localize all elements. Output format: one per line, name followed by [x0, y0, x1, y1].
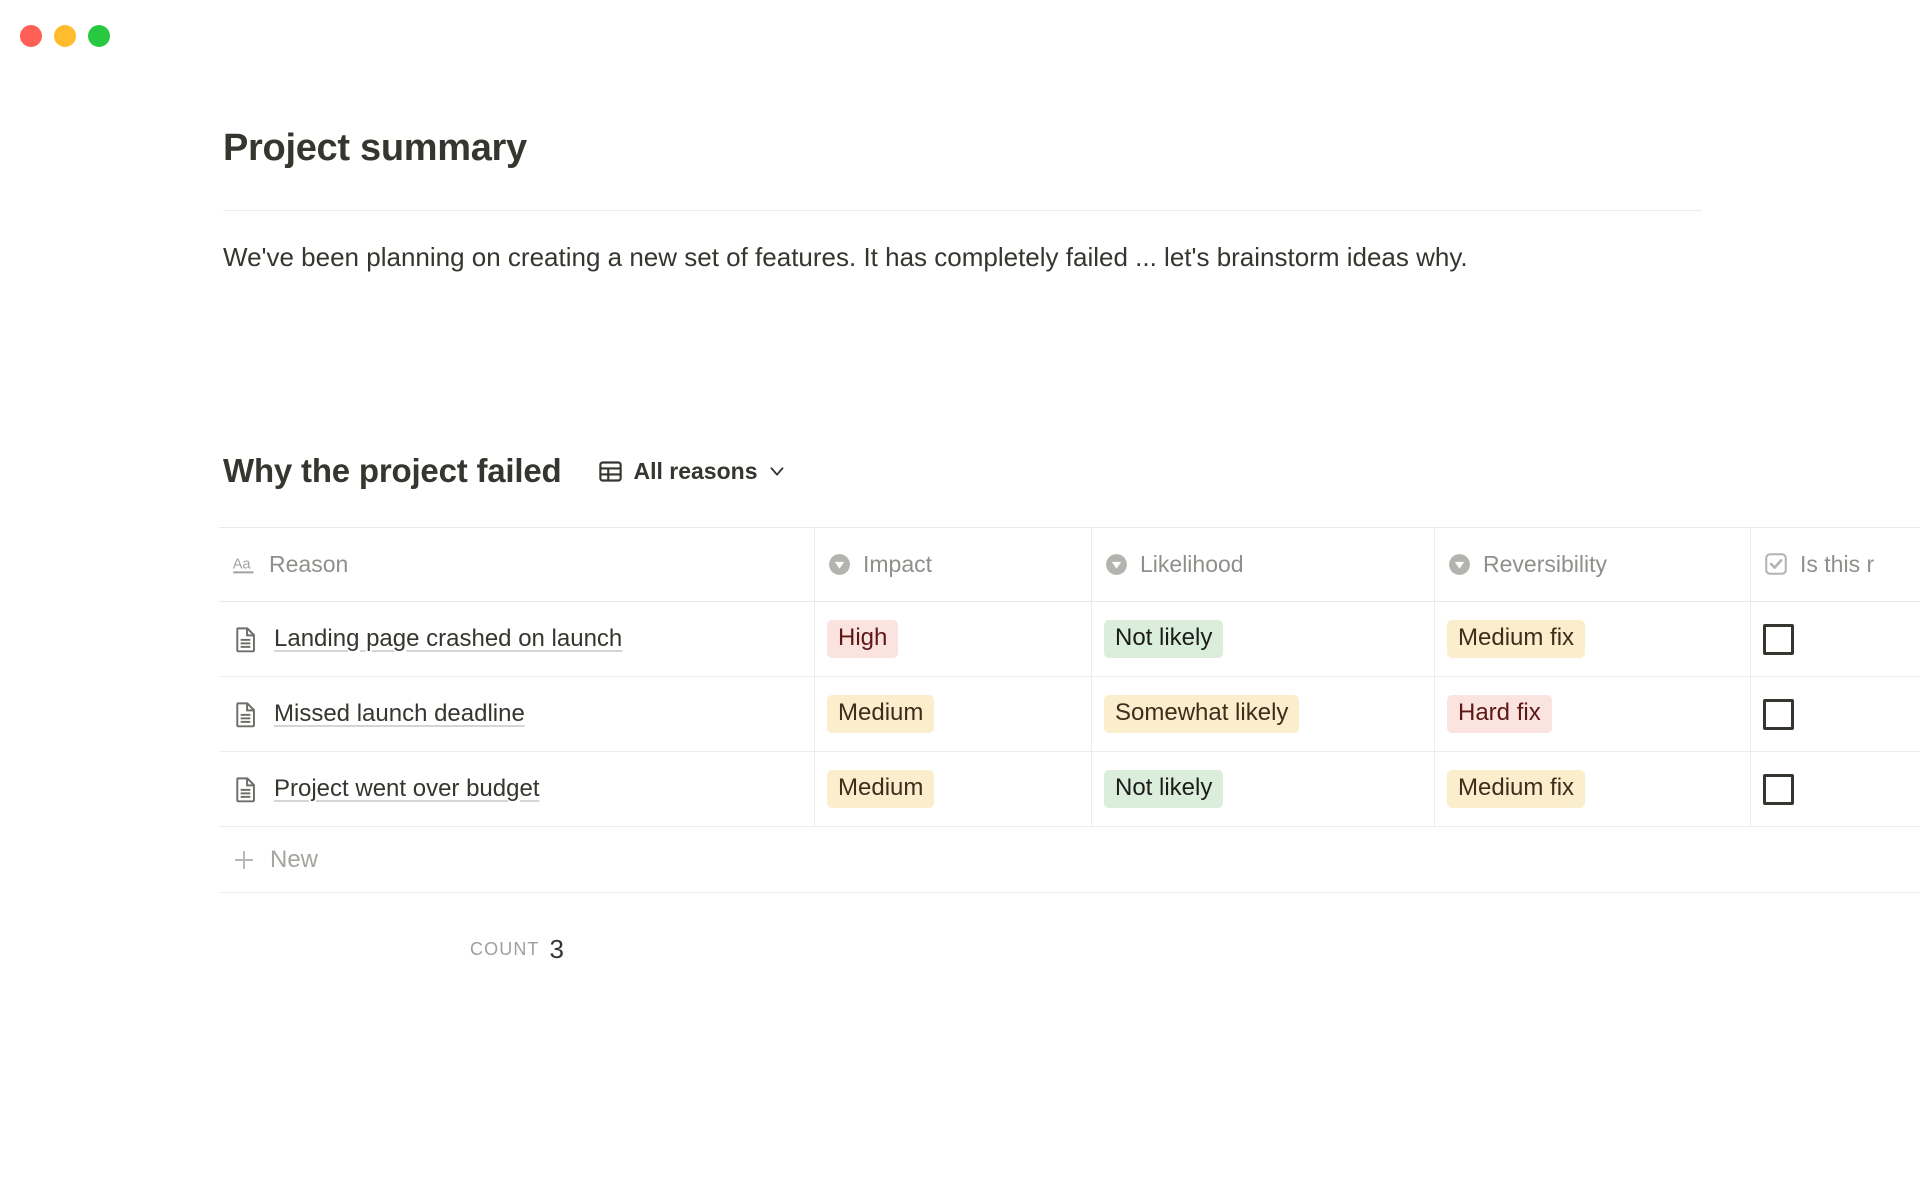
column-header-label: Likelihood: [1140, 551, 1244, 578]
column-header-label: Impact: [863, 551, 932, 578]
cell-reason[interactable]: Missed launch deadline: [219, 677, 815, 751]
select-type-icon: [1447, 552, 1472, 577]
likelihood-tag: Somewhat likely: [1104, 695, 1299, 733]
count-value: 3: [550, 934, 564, 965]
reason-title[interactable]: Project went over budget: [274, 775, 540, 803]
add-new-row-label: New: [270, 846, 318, 874]
table-row: Project went over budget Medium Not like…: [219, 752, 1920, 827]
cell-is-this-recoverable[interactable]: [1751, 602, 1920, 676]
impact-tag: Medium: [827, 770, 934, 808]
table-row: Landing page crashed on launch High Not …: [219, 602, 1920, 677]
impact-tag: Medium: [827, 695, 934, 733]
table-icon: [597, 458, 624, 485]
document-page: Project summary We've been planning on c…: [0, 0, 1920, 1200]
cell-is-this-recoverable[interactable]: [1751, 677, 1920, 751]
checkbox-type-icon: [1763, 551, 1789, 577]
likelihood-tag: Not likely: [1104, 620, 1223, 658]
cell-impact[interactable]: High: [815, 602, 1092, 676]
cell-likelihood[interactable]: Somewhat likely: [1092, 677, 1435, 751]
cell-reversibility[interactable]: Medium fix: [1435, 752, 1751, 826]
cell-impact[interactable]: Medium: [815, 677, 1092, 751]
column-header-label: Reason: [269, 551, 348, 578]
reversibility-tag: Hard fix: [1447, 695, 1552, 733]
summary-paragraph: We've been planning on creating a new se…: [223, 237, 1563, 277]
svg-text:Aa: Aa: [233, 556, 252, 572]
reversibility-tag: Medium fix: [1447, 770, 1585, 808]
page-icon: [231, 775, 260, 804]
section-header: Why the project failed All reasons: [223, 452, 792, 490]
count-summary[interactable]: Count 3: [219, 923, 815, 976]
cell-likelihood[interactable]: Not likely: [1092, 602, 1435, 676]
table-header-row: Aa Reason Impact: [219, 527, 1920, 602]
cell-reversibility[interactable]: Hard fix: [1435, 677, 1751, 751]
title-divider: [223, 210, 1702, 211]
plus-icon: [231, 847, 257, 873]
cell-likelihood[interactable]: Not likely: [1092, 752, 1435, 826]
text-type-icon: Aa: [231, 551, 258, 578]
table-row: Missed launch deadline Medium Somewhat l…: [219, 677, 1920, 752]
likelihood-tag: Not likely: [1104, 770, 1223, 808]
row-checkbox[interactable]: [1763, 624, 1794, 655]
reversibility-tag: Medium fix: [1447, 620, 1585, 658]
cell-is-this-recoverable[interactable]: [1751, 752, 1920, 826]
column-header-reason[interactable]: Aa Reason: [219, 527, 815, 601]
select-type-icon: [827, 552, 852, 577]
page-icon: [231, 625, 260, 654]
column-header-reversibility[interactable]: Reversibility: [1435, 527, 1751, 601]
section-title: Why the project failed: [223, 452, 561, 490]
column-header-impact[interactable]: Impact: [815, 527, 1092, 601]
view-name: All reasons: [633, 458, 757, 485]
reasons-table: Aa Reason Impact: [219, 527, 1920, 893]
cell-reversibility[interactable]: Medium fix: [1435, 602, 1751, 676]
cell-reason[interactable]: Landing page crashed on launch: [219, 602, 815, 676]
column-header-likelihood[interactable]: Likelihood: [1092, 527, 1435, 601]
page-icon: [231, 700, 260, 729]
select-type-icon: [1104, 552, 1129, 577]
chevron-down-icon: [766, 460, 788, 482]
column-header-label: Reversibility: [1483, 551, 1607, 578]
row-checkbox[interactable]: [1763, 699, 1794, 730]
view-selector[interactable]: All reasons: [593, 455, 792, 488]
cell-impact[interactable]: Medium: [815, 752, 1092, 826]
reason-title[interactable]: Missed launch deadline: [274, 700, 525, 728]
reason-title[interactable]: Landing page crashed on launch: [274, 625, 622, 653]
add-new-row-button[interactable]: New: [219, 827, 1920, 893]
column-header-label: Is this r: [1800, 551, 1874, 578]
page-title: Project summary: [223, 126, 527, 172]
column-header-is-this-recoverable[interactable]: Is this r: [1751, 527, 1920, 601]
impact-tag: High: [827, 620, 898, 658]
cell-reason[interactable]: Project went over budget: [219, 752, 815, 826]
row-checkbox[interactable]: [1763, 774, 1794, 805]
count-label: Count: [470, 939, 540, 960]
